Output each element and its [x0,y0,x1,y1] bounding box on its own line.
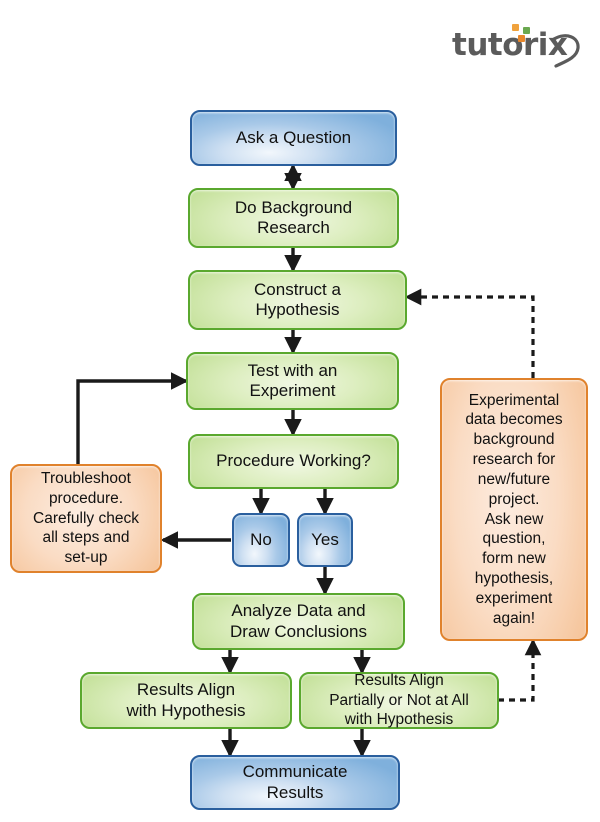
node-label: Test with anExperiment [248,361,338,401]
node-label: Analyze Data andDraw Conclusions [230,601,367,641]
edge-troubleshoot-experiment [78,381,186,464]
node-yes[interactable]: Yes [297,513,353,567]
node-troubleshoot-procedure[interactable]: Troubleshootprocedure.Carefully checkall… [10,464,162,573]
node-do-background-research[interactable]: Do BackgroundResearch [188,188,399,248]
node-analyze-data-and-draw-conclusions[interactable]: Analyze Data andDraw Conclusions [192,593,405,650]
node-communicate-results[interactable]: CommunicateResults [190,755,400,810]
node-no[interactable]: No [232,513,290,567]
edge-newproject-hypothesis [407,297,533,378]
node-label: Results AlignPartially or Not at Allwith… [329,671,469,730]
logo-square-orange-icon [512,24,519,31]
node-ask-a-question[interactable]: Ask a Question [190,110,397,166]
flowchart-canvas: tutorix [0,0,600,822]
node-test-with-an-experiment[interactable]: Test with anExperiment [186,352,399,410]
logo-wordmark: tutorix [452,30,567,61]
node-procedure-working[interactable]: Procedure Working? [188,434,399,489]
node-label: No [250,530,272,550]
node-label: CommunicateResults [243,762,348,802]
node-results-align-partially-or-not-at-all[interactable]: Results AlignPartially or Not at Allwith… [299,672,499,729]
logo-square-amber-icon [518,35,525,42]
node-label: Procedure Working? [216,451,371,471]
tutorix-logo: tutorix [452,24,582,68]
node-label: Troubleshootprocedure.Carefully checkall… [33,469,139,568]
node-experimental-data-becomes-background-research[interactable]: Experimentaldata becomesbackgroundresear… [440,378,588,641]
node-construct-a-hypothesis[interactable]: Construct aHypothesis [188,270,407,330]
node-label: Do BackgroundResearch [235,198,352,238]
logo-square-green-icon [523,27,530,34]
node-results-align-with-hypothesis[interactable]: Results Alignwith Hypothesis [80,672,292,729]
edge-notalign-newproject [498,641,533,700]
node-label: Results Alignwith Hypothesis [126,680,245,720]
node-label: Ask a Question [236,128,351,148]
logo-swoosh-icon [552,26,582,68]
node-label: Experimentaldata becomesbackgroundresear… [465,391,562,629]
node-label: Yes [311,530,339,550]
node-label: Construct aHypothesis [254,280,341,320]
